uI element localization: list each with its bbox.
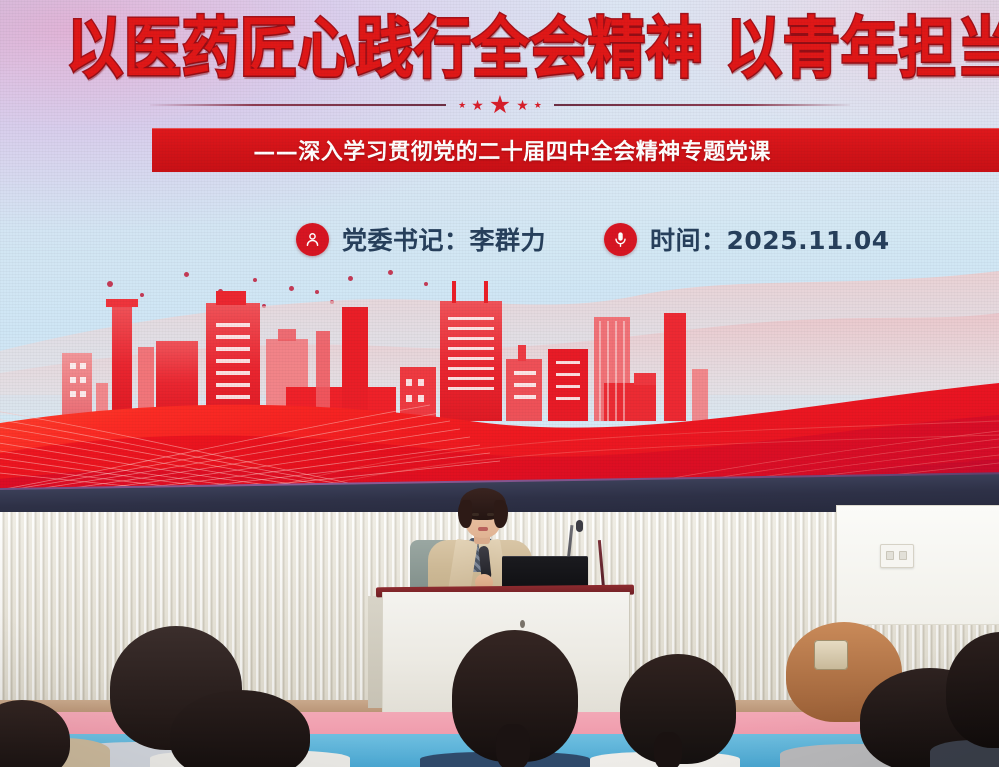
hair-clip bbox=[814, 640, 848, 670]
star-icon: ★ bbox=[534, 101, 542, 110]
info-item-speaker: 党委书记：李群力 bbox=[296, 221, 546, 257]
wall-panel bbox=[836, 505, 999, 625]
led-screen: 以医药匠心践行全会精神 以青年担当引领制药 ★ ★ ★ ★ ★ ——深入学习贯彻… bbox=[0, 0, 999, 497]
speaker-mouth bbox=[478, 527, 488, 531]
info-item-time: 时间：2025.11.04 bbox=[604, 221, 890, 257]
audience-ponytail bbox=[496, 724, 530, 767]
outlet-socket bbox=[886, 551, 894, 560]
podium-detail bbox=[520, 620, 525, 628]
star-icon: ★ bbox=[516, 98, 529, 112]
divider-stars: ★ ★ ★ ★ ★ bbox=[446, 93, 554, 118]
outlet-socket bbox=[899, 551, 907, 560]
audience-ponytail bbox=[654, 732, 682, 767]
star-icon: ★ bbox=[458, 101, 466, 110]
speaker-eye-right bbox=[487, 513, 494, 516]
banner-title-text: 以医药匠心践行全会精神 以青年担当引领制药 bbox=[66, 11, 999, 84]
speaker-hair-right bbox=[494, 500, 508, 528]
star-icon: ★ bbox=[489, 93, 511, 118]
power-outlet bbox=[880, 544, 914, 568]
info-time-label: 时间：2025.11.04 bbox=[650, 221, 890, 257]
screenshot-root: 以医药匠心践行全会精神 以青年担当引领制药 ★ ★ ★ ★ ★ ——深入学习贯彻… bbox=[0, 0, 999, 767]
divider-line-left bbox=[150, 104, 446, 106]
banner-title-area: 以医药匠心践行全会精神 以青年担当引领制药 bbox=[0, 2, 999, 84]
info-speaker-label: 党委书记：李群力 bbox=[342, 221, 546, 257]
star-icon: ★ bbox=[471, 98, 484, 112]
microphone-stand-head bbox=[576, 520, 583, 532]
person-icon bbox=[296, 223, 329, 256]
banner-subtitle-bar: ——深入学习贯彻党的二十届四中全会精神专题党课 bbox=[152, 128, 999, 172]
microphone-icon bbox=[604, 223, 637, 256]
divider-line-right bbox=[554, 104, 850, 106]
banner-subtitle-text: ——深入学习贯彻党的二十届四中全会精神专题党课 bbox=[152, 128, 872, 172]
speaker-eye-left bbox=[472, 513, 479, 516]
star-divider: ★ ★ ★ ★ ★ bbox=[150, 92, 850, 118]
banner-title: 以医药匠心践行全会精神 以青年担当引领制药 bbox=[66, 6, 999, 84]
banner-artwork bbox=[0, 255, 999, 497]
speaker-hair-left bbox=[458, 500, 472, 528]
